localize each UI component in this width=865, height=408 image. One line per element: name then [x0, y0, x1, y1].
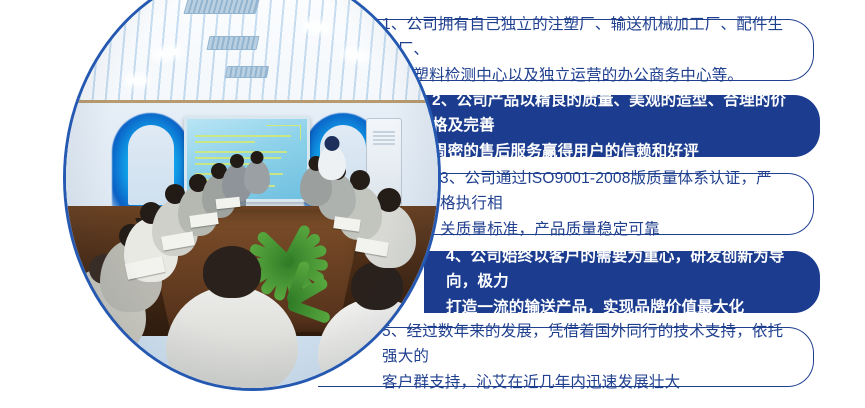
- advantage-block-4: 4、公司始终以客户的需要为重心，研发创新为导向，极力 打造一流的输送产品，实现品…: [424, 251, 820, 313]
- meeting-room-photo: [66, 0, 438, 388]
- ceiling-vent-icon: [207, 36, 260, 50]
- advantage-4-line-1: 4、公司始终以客户的需要为重心，研发创新为导向，极力: [446, 244, 794, 294]
- advantage-3-line-2: 关质量标准，产品质量稳定可靠: [440, 217, 787, 242]
- ceiling-light: [128, 78, 146, 83]
- photo-inner: [66, 0, 438, 388]
- ceiling-light: [156, 48, 179, 57]
- advantage-2-line-2: 周密的售后服务赢得用户的信赖和好评: [432, 139, 794, 164]
- ceiling-light: [346, 50, 367, 59]
- advantages-infographic: 1、公司拥有自己独立的注塑厂、输送机械加工厂、配件生产厂、 工程塑料检测中心以及…: [0, 0, 865, 408]
- ceiling-light: [306, 22, 329, 31]
- screen-corner-decor: [266, 125, 301, 140]
- advantage-2-line-1: 2、公司产品以精良的质量、美观的造型、合理的价格及完善: [432, 88, 794, 138]
- presenter: [318, 146, 346, 180]
- advantage-1-line-1: 1、公司拥有自己独立的注塑厂、输送机械加工厂、配件生产厂、: [382, 12, 787, 62]
- advantage-5-line-2: 客户群支持，沁艾在近几年内迅速发展壮大: [382, 370, 787, 395]
- ceiling-vent-icon: [183, 0, 260, 14]
- ceiling-vent-icon: [225, 66, 269, 78]
- advantage-1-line-2: 工程塑料检测中心以及独立运营的办公商务中心等。: [382, 63, 787, 88]
- ceiling: [66, 0, 438, 110]
- advantage-block-2: 2、公司产品以精良的质量、美观的造型、合理的价格及完善 周密的售后服务赢得用户的…: [410, 95, 820, 157]
- attendee: [244, 160, 270, 194]
- advantage-4-line-2: 打造一流的输送产品，实现品牌价值最大化: [446, 295, 794, 320]
- advantage-block-3: 3、公司通过ISO9001-2008版质量体系认证，严格执行相 关质量标准，产品…: [418, 173, 814, 235]
- advantage-5-line-1: 5、经过数年来的发展，凭借着国外同行的技术支持，依托强大的: [382, 319, 787, 369]
- advantage-3-line-1: 3、公司通过ISO9001-2008版质量体系认证，严格执行相: [440, 166, 787, 216]
